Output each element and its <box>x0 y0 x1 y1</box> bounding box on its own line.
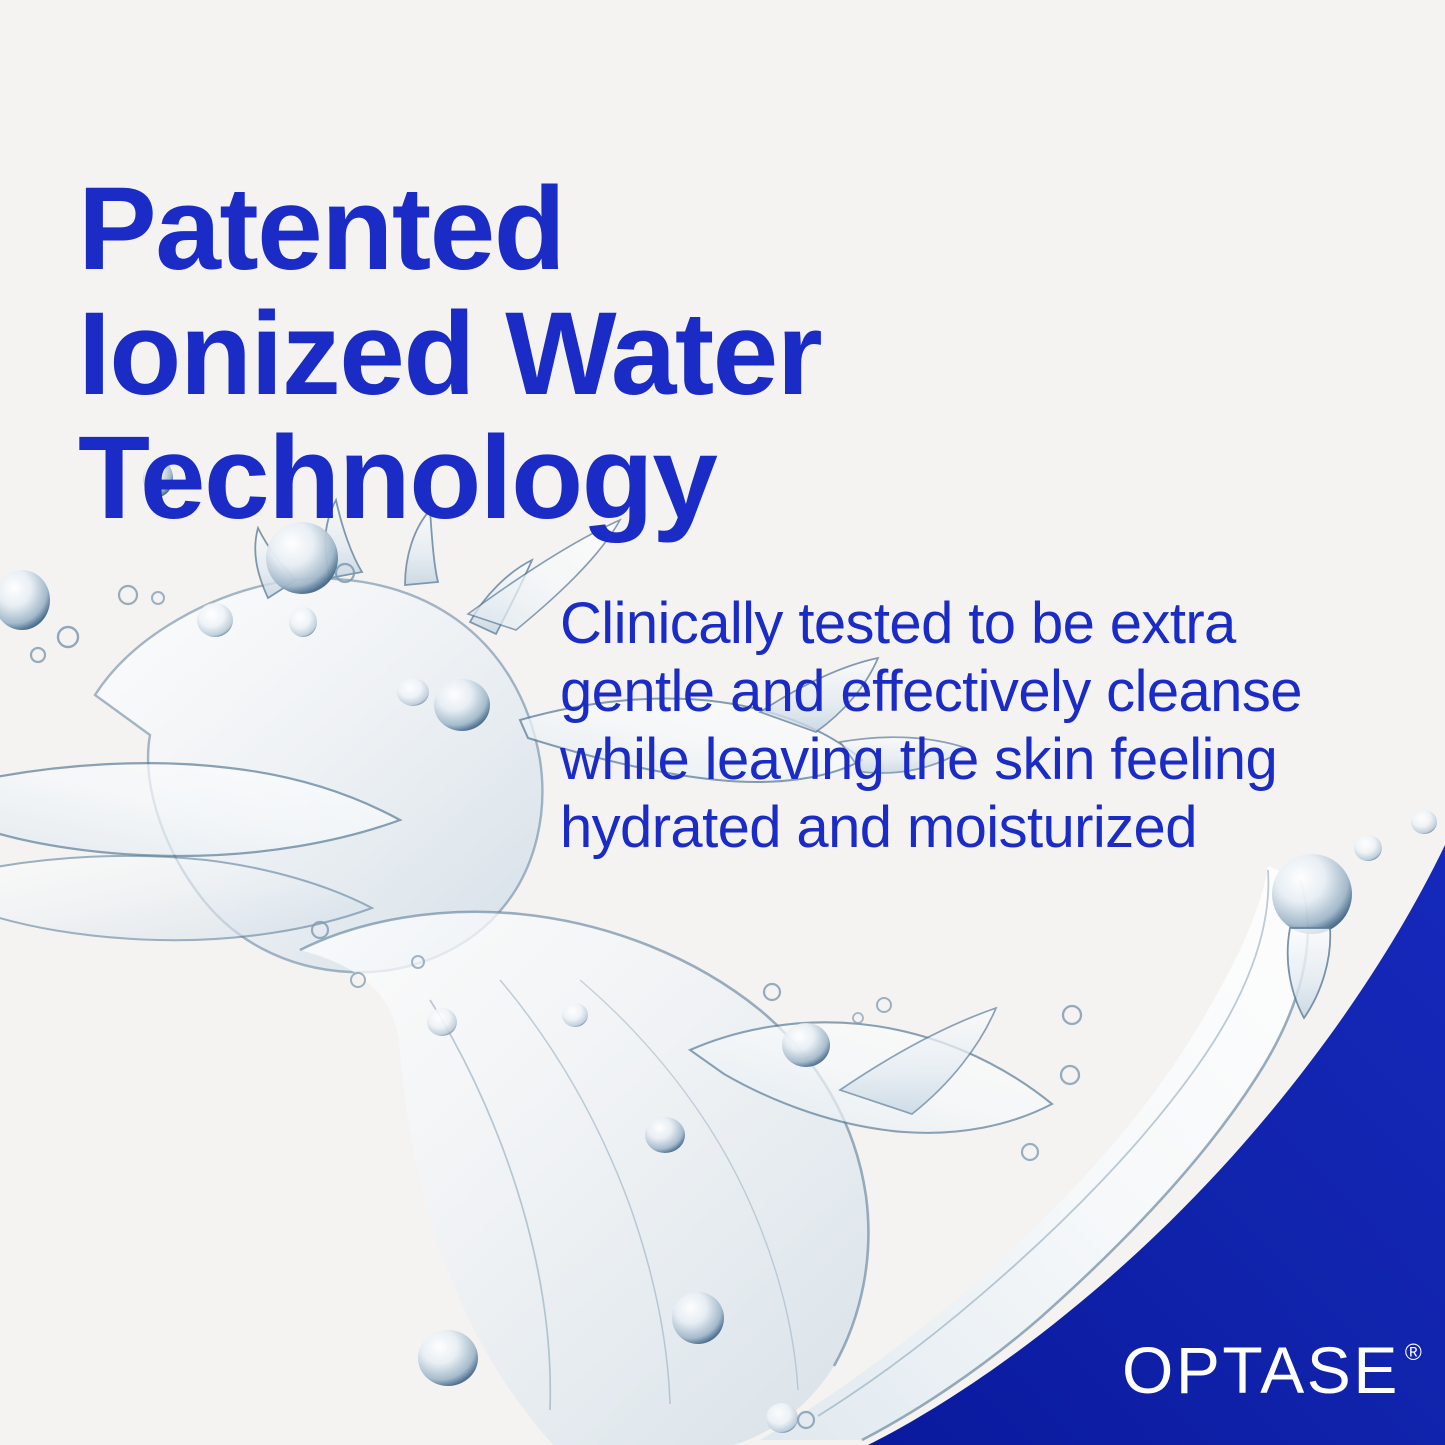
brand-wordmark: OPTASE <box>1122 1337 1400 1403</box>
body-copy: Clinically tested to be extra gentle and… <box>560 590 1390 861</box>
product-marketing-poster: Patented Ionized Water Technology Clinic… <box>0 0 1445 1445</box>
registered-trademark-icon: ® <box>1405 1341 1422 1364</box>
page-title: Patented Ionized Water Technology <box>78 167 978 540</box>
brand-logo: OPTASE ® <box>1122 1337 1422 1403</box>
